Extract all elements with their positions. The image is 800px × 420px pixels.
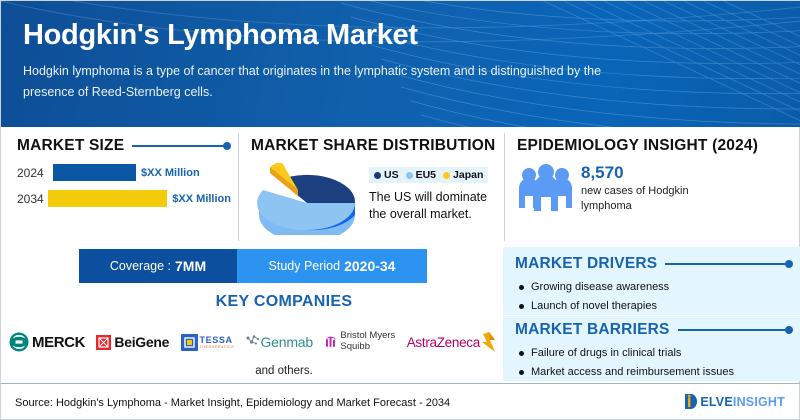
market-barriers-rule <box>678 329 786 331</box>
bar-value-2024: $XX Million <box>141 167 200 179</box>
divider-right <box>504 133 505 241</box>
epidemiology-description: new cases of Hodgkin lymphoma <box>581 184 731 214</box>
delveinsight-mark-icon <box>684 393 699 410</box>
legend-swatch-us <box>374 172 381 179</box>
table-row: 2034 $XX Million <box>17 190 231 207</box>
legend-label-us: US <box>384 169 399 181</box>
market-size-panel: MARKET SIZE 2024 $XX Million 2034 $XX Mi… <box>17 137 231 207</box>
bar-value-2034: $XX Million <box>172 193 231 205</box>
merck-mark-icon <box>9 332 29 352</box>
delveinsight-logo: ELVEINSIGHT <box>684 393 785 410</box>
drivers-barriers-panel: MARKET DRIVERS Growing disease awareness… <box>503 247 800 381</box>
table-row: 2024 $XX Million <box>17 164 231 181</box>
market-drivers-section: MARKET DRIVERS Growing disease awareness… <box>515 255 793 319</box>
bullet-icon <box>519 304 524 309</box>
footer-separator <box>1 383 800 384</box>
list-item: Failure of drugs in clinical trials <box>515 346 793 360</box>
legend-label-eu5: EU5 <box>416 169 436 181</box>
legend-item-us: US <box>374 169 399 181</box>
key-companies-logos: MERCK BeiGene TESSA THERAPEUTICS <box>9 323 497 361</box>
logo-label-beigene: BeiGene <box>114 334 169 350</box>
bar-year-label: 2034 <box>17 192 48 206</box>
key-companies-title: KEY COMPANIES <box>79 293 489 311</box>
pie-chart <box>251 163 363 235</box>
market-share-panel: MARKET SHARE DISTRIBUTION <box>251 137 496 235</box>
market-share-note: The US will dominate the overall market. <box>369 189 499 223</box>
bullet-icon <box>519 351 524 356</box>
legend-item-eu5: EU5 <box>406 169 436 181</box>
legend-swatch-japan <box>443 172 450 179</box>
epidemiology-panel: EPIDEMIOLOGY INSIGHT (2024) 8,570 new ca… <box>517 137 789 214</box>
epidemiology-number: 8,570 <box>581 164 731 181</box>
beigene-mark-icon <box>96 335 111 350</box>
driver-text: Growing disease awareness <box>531 280 669 294</box>
coverage-label: Coverage : <box>110 259 171 273</box>
market-size-rule-dot <box>223 142 231 150</box>
study-period-value: 2020-34 <box>344 258 395 274</box>
market-size-header: MARKET SIZE <box>17 137 231 155</box>
coverage-value: 7MM <box>175 258 206 274</box>
bms-mark-icon <box>324 334 338 350</box>
pie-chart-wrap: US EU5 Japan The US will dominate the ov… <box>251 163 496 235</box>
logo-genmab: Genmab <box>245 334 313 350</box>
pie-legend: US EU5 Japan <box>369 167 488 183</box>
market-barriers-title: MARKET BARRIERS <box>515 321 670 339</box>
brand-part-insight: INSIGHT <box>733 395 785 409</box>
market-size-title: MARKET SIZE <box>17 137 124 155</box>
bar-2034 <box>48 190 167 207</box>
people-group-icon <box>517 164 575 212</box>
header-banner: Hodgkin's Lymphoma Market Hodgkin lympho… <box>1 1 800 127</box>
logo-tessa: TESSA THERAPEUTICS <box>181 334 235 351</box>
market-drivers-title: MARKET DRIVERS <box>515 255 657 273</box>
bar-2024 <box>53 164 136 181</box>
logo-sublabel-bms: Squibb <box>340 342 395 353</box>
logo-label-astrazeneca: AstraZeneca <box>407 335 480 350</box>
infographic-page: Hodgkin's Lymphoma Market Hodgkin lympho… <box>0 0 800 420</box>
barrier-text: Market access and reimbursement issues <box>531 365 734 379</box>
legend-label-japan: Japan <box>453 169 483 181</box>
market-drivers-header: MARKET DRIVERS <box>515 255 793 273</box>
market-barriers-header: MARKET BARRIERS <box>515 321 793 339</box>
driver-text: Launch of novel therapies <box>531 299 657 313</box>
delveinsight-wordmark: ELVEINSIGHT <box>700 395 785 409</box>
logo-sublabel-tessa: THERAPEUTICS <box>200 345 235 349</box>
logo-merck: MERCK <box>9 332 85 352</box>
study-period-label: Study Period <box>269 259 341 273</box>
logo-beigene: BeiGene <box>96 334 169 350</box>
brand-part-elve: ELVE <box>700 395 733 409</box>
market-share-title: MARKET SHARE DISTRIBUTION <box>251 137 496 155</box>
page-title: Hodgkin's Lymphoma Market <box>23 19 418 52</box>
market-drivers-rule <box>665 263 786 265</box>
genmab-mark-icon <box>245 334 261 350</box>
page-subtitle: Hodgkin lymphoma is a type of cancer tha… <box>23 61 623 102</box>
study-period-segment: Study Period 2020-34 <box>237 249 427 283</box>
astrazeneca-mark-icon <box>479 331 497 353</box>
bullet-icon <box>519 370 524 375</box>
epidemiology-body: 8,570 new cases of Hodgkin lymphoma <box>517 164 789 214</box>
market-drivers-rule-dot <box>785 260 793 268</box>
list-item: Launch of novel therapies <box>515 299 793 313</box>
epidemiology-stat: 8,570 new cases of Hodgkin lymphoma <box>581 164 731 214</box>
market-barriers-rule-dot <box>785 326 793 334</box>
logo-label-genmab: Genmab <box>260 334 313 350</box>
market-drivers-list: Growing disease awareness Launch of nove… <box>515 280 793 314</box>
barrier-text: Failure of drugs in clinical trials <box>531 346 681 360</box>
market-barriers-list: Failure of drugs in clinical trials Mark… <box>515 346 793 380</box>
coverage-bar: Coverage : 7MM Study Period 2020-34 <box>79 249 427 283</box>
source-text: Source: Hodgkin's Lymphoma - Market Insi… <box>15 397 450 409</box>
bullet-icon <box>519 285 524 290</box>
legend-item-japan: Japan <box>443 169 483 181</box>
logo-label-merck: MERCK <box>32 334 85 351</box>
coverage-segment: Coverage : 7MM <box>79 249 237 283</box>
tessa-mark-icon <box>181 334 198 351</box>
market-barriers-section: MARKET BARRIERS Failure of drugs in clin… <box>515 321 793 385</box>
divider-left <box>238 133 239 241</box>
logo-astrazeneca: AstraZeneca <box>407 331 497 353</box>
and-others-label: and others. <box>79 365 489 377</box>
market-size-rule <box>132 145 224 147</box>
list-item: Growing disease awareness <box>515 280 793 294</box>
logo-bristol-myers-squibb: Bristol Myers Squibb <box>324 331 395 352</box>
bar-year-label: 2024 <box>17 166 53 180</box>
list-item: Market access and reimbursement issues <box>515 365 793 379</box>
legend-swatch-eu5 <box>406 172 413 179</box>
epidemiology-title: EPIDEMIOLOGY INSIGHT (2024) <box>517 137 789 155</box>
